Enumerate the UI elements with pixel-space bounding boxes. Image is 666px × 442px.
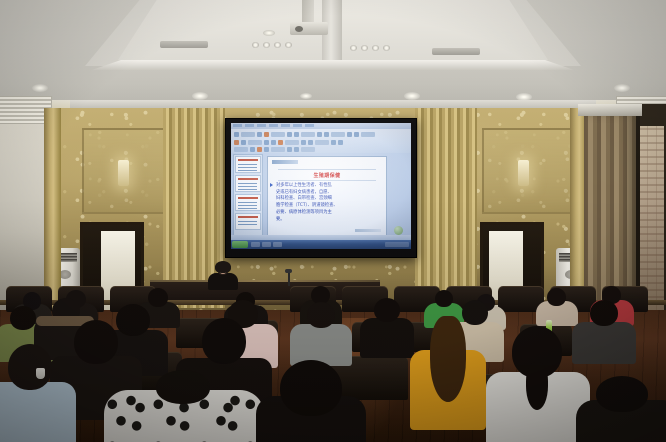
table-microphone	[285, 269, 292, 273]
projection-screen: 生殖期保健 对多年以上性生活者、有性乱 史或已有妇女病患者，自愿、 妇科检查、白…	[225, 118, 417, 258]
ribbon-tab[interactable]	[233, 124, 242, 127]
attendee-head	[374, 298, 400, 322]
toolbar-icon[interactable]	[331, 140, 336, 145]
toolbar-icon[interactable]	[271, 132, 285, 137]
attendee-head	[307, 302, 335, 328]
ceiling-downlight	[300, 93, 312, 99]
toolbar-icon[interactable]	[257, 132, 262, 137]
ceiling	[0, 0, 666, 112]
projection-surface: 生殖期保健 对多年以上性生活者、有性乱 史或已有妇女病患者，自愿、 妇科检查、白…	[231, 123, 411, 249]
slide-thumbnail[interactable]	[235, 194, 261, 211]
powerpoint-workspace: 生殖期保健 对多年以上性生活者、有性乱 史或已有妇女病患者，自愿、 妇科检查、白…	[231, 153, 411, 241]
thumbnail-line	[238, 170, 257, 171]
thumbnail-line	[238, 164, 257, 165]
slide-bullet-marker	[270, 183, 273, 187]
ceiling-light-bar-right	[432, 48, 480, 55]
thumbnail-line	[238, 183, 257, 184]
list-item	[410, 316, 486, 426]
slide-thumbnail-panel[interactable]	[233, 154, 263, 238]
windows-taskbar[interactable]	[231, 240, 411, 249]
attendee-head	[8, 344, 52, 390]
toolbar-icon[interactable]	[264, 132, 269, 137]
toolbar-icon[interactable]	[331, 132, 345, 137]
system-tray[interactable]	[385, 242, 409, 247]
toolbar-icon[interactable]	[241, 132, 255, 137]
spotlight-lamp	[383, 45, 390, 51]
attendee-hair-ponytail	[430, 316, 466, 402]
wall-sconce-left	[118, 160, 129, 186]
slide-title-text: 生殖期保健	[313, 172, 340, 179]
toolbar-row-top[interactable]	[234, 132, 375, 137]
toolbar-icon[interactable]	[234, 147, 248, 152]
ceiling-mounted-projector	[290, 22, 328, 35]
slide-body-line: 妇科检查、白带检查、宫颈细	[276, 196, 380, 201]
paper-cup[interactable]	[36, 368, 45, 379]
list-item	[0, 344, 76, 442]
thumbnail-line	[238, 224, 257, 225]
ribbon-tab[interactable]	[269, 124, 278, 127]
presenter-hair	[215, 261, 231, 273]
toolbar-icon[interactable]	[264, 147, 269, 152]
toolbar-icon[interactable]	[264, 140, 269, 145]
toolbar-icon[interactable]	[287, 147, 292, 152]
ceiling-downlight	[192, 92, 208, 100]
thumbnail-line	[238, 208, 257, 209]
toolbar-icon[interactable]	[234, 140, 239, 145]
attendee-hair-ponytail	[526, 362, 548, 410]
attendee-head	[596, 376, 648, 412]
spotlight-lamp	[252, 42, 259, 48]
thumbnail-title-bar	[238, 197, 258, 199]
spotlight-lamp	[263, 42, 270, 48]
toolbar-icon[interactable]	[278, 140, 283, 145]
slide-body-box: 对多年以上性生活者、有性乱 史或已有妇女病患者，自愿、 妇科检查、白带检查、宫颈…	[276, 183, 380, 223]
attendee-head	[74, 320, 118, 364]
toolbar-icon[interactable]	[241, 140, 246, 145]
ceiling-downlight	[404, 92, 420, 100]
attendee-head	[156, 370, 210, 404]
slide-body-line: 对多年以上性生活者、有性乱	[276, 183, 380, 188]
slide-thumbnail[interactable]	[235, 213, 261, 230]
ribbon-tab[interactable]	[245, 124, 254, 127]
ceiling-spotlight-row-left	[252, 42, 292, 48]
thumbnail-title-bar	[238, 216, 258, 218]
toolbar-icon[interactable]	[361, 132, 375, 137]
toolbar-icon[interactable]	[324, 132, 329, 137]
curtain-rod	[578, 104, 642, 116]
ribbon-tab-strip[interactable]	[233, 124, 314, 127]
list-item	[256, 360, 366, 442]
slide-editing-stage[interactable]: 生殖期保健 对多年以上性生活者、有性乱 史或已有妇女病患者，自愿、 妇科检查、白…	[267, 156, 387, 236]
taskbar-button[interactable]	[273, 242, 282, 247]
toolbar-icon[interactable]	[248, 140, 262, 145]
slide-footer	[355, 229, 381, 232]
toolbar-icon[interactable]	[338, 140, 343, 145]
list-item	[360, 298, 414, 354]
list-item	[104, 374, 264, 442]
thumbnail-line	[238, 186, 257, 187]
toolbar-icon[interactable]	[301, 140, 306, 145]
fluted-wood-panel-right	[415, 108, 477, 308]
list-item	[486, 326, 590, 442]
start-button[interactable]	[232, 241, 248, 248]
thumbnail-title-bar	[238, 178, 258, 180]
thumbnail-line	[238, 189, 257, 190]
slide-logo	[272, 160, 298, 164]
toolbar-icon[interactable]	[294, 147, 299, 152]
desktop-orb-icon	[394, 226, 403, 235]
toolbar-icon[interactable]	[317, 132, 322, 137]
toolbar-icon[interactable]	[250, 147, 255, 152]
toolbar-row-bottom[interactable]	[234, 147, 315, 152]
toolbar-icon[interactable]	[234, 132, 239, 137]
slide-body-line: 要。	[276, 217, 380, 222]
attendee-head	[547, 288, 566, 306]
ribbon-tab[interactable]	[257, 124, 266, 127]
taskbar-button[interactable]	[262, 242, 271, 247]
lecture-hall-photo: 生殖期保健 对多年以上性生活者、有性乱 史或已有妇女病患者，自愿、 妇科检查、白…	[0, 0, 666, 442]
spotlight-lamp	[274, 42, 281, 48]
ceiling-downlight	[614, 84, 630, 92]
thumbnail-line	[238, 167, 257, 168]
ceiling-coffer-lip	[92, 60, 574, 70]
toolbar-row-middle[interactable]	[234, 140, 343, 145]
taskbar-button[interactable]	[251, 242, 260, 247]
spotlight-lamp	[285, 42, 292, 48]
attendee-body	[0, 382, 76, 442]
toolbar-icon[interactable]	[301, 132, 315, 137]
slide-thumbnail[interactable]	[235, 156, 261, 173]
thumbnail-line	[238, 205, 257, 206]
thumbnail-line	[238, 202, 257, 203]
ceiling-light-bar-left	[160, 41, 208, 48]
ribbon-tab[interactable]	[305, 124, 314, 127]
slide-body-line: 史或已有妇女病患者，自愿、	[276, 190, 380, 195]
attendee-head	[202, 318, 246, 364]
toolbar-icon[interactable]	[287, 132, 292, 137]
toolbar-icon[interactable]	[354, 132, 359, 137]
toolbar-icon[interactable]	[285, 140, 299, 145]
attendee-body	[360, 318, 414, 358]
toolbar-icon[interactable]	[294, 132, 299, 137]
thumbnail-line	[238, 221, 257, 222]
attendee-head	[280, 360, 342, 416]
toolbar-icon[interactable]	[347, 132, 352, 137]
slide-title-box: 生殖期保健	[278, 169, 376, 181]
spotlight-lamp	[350, 45, 357, 51]
slide-body-line: 必要、病原体检测等项目为主	[276, 210, 380, 215]
spotlight-lamp	[372, 45, 379, 51]
ceiling-downlight	[32, 84, 48, 92]
attendee-head	[10, 306, 36, 330]
attendee-head	[590, 300, 618, 326]
slide-body-line: 胞学检查（TCT）、阴道镜检查、	[276, 203, 380, 208]
toolbar-icon[interactable]	[271, 140, 276, 145]
list-item	[290, 302, 352, 362]
wall-sconce-right	[518, 160, 529, 186]
toolbar-icon[interactable]	[301, 147, 315, 152]
slide-thumbnail[interactable]	[235, 175, 261, 192]
toolbar-icon[interactable]	[308, 140, 313, 145]
thumbnail-title-bar	[238, 159, 258, 161]
toolbar-icon[interactable]	[257, 147, 262, 152]
ceiling-spotlight-row-right	[350, 45, 390, 51]
powerpoint-toolbar[interactable]	[231, 129, 411, 154]
ribbon-tab[interactable]	[293, 124, 302, 127]
ribbon-tab[interactable]	[281, 124, 290, 127]
list-item	[576, 376, 666, 442]
toolbar-icon[interactable]	[315, 140, 329, 145]
spotlight-lamp	[361, 45, 368, 51]
toolbar-icon[interactable]	[271, 147, 285, 152]
ceiling-downlight	[263, 30, 275, 36]
